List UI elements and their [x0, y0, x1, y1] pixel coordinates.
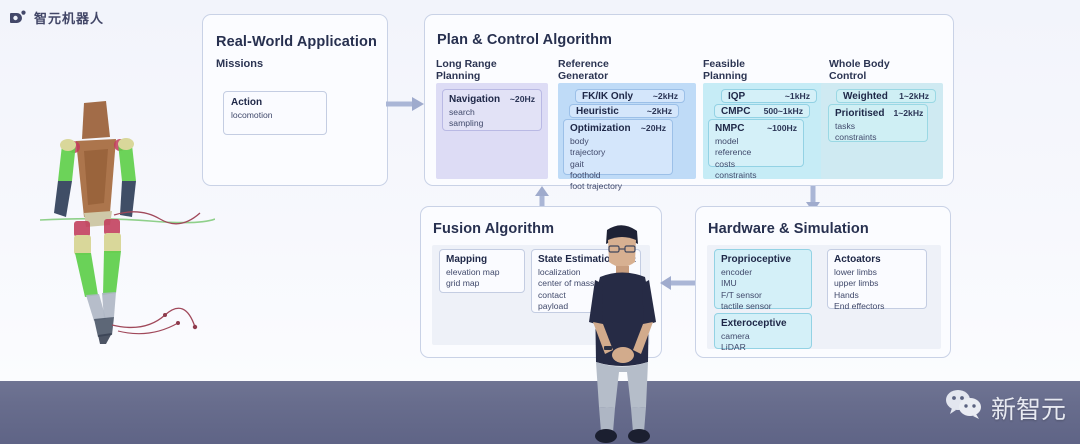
card-prioritised[interactable]: Prioritised 1~2kHz tasks constraints — [828, 104, 928, 142]
arrow-realworld-to-plan — [386, 96, 426, 112]
card-weighted[interactable]: Weighted 1~2kHz — [836, 89, 936, 103]
card-proprioceptive-title: Proprioceptive — [721, 254, 791, 265]
panel-plan-control-algorithm: Plan & Control Algorithm Long Range Plan… — [424, 14, 954, 186]
card-optimization-head: Optimization ~20Hz — [570, 123, 666, 134]
card-action-items: locomotion — [231, 110, 319, 121]
card-actoators-head: Actoators — [834, 254, 920, 265]
card-cmpc-head: CMPC 500~1kHz — [721, 106, 803, 117]
list-item: elevation map — [446, 267, 518, 278]
card-nmpc-hz: ~100Hz — [767, 123, 797, 133]
card-heuristic-hz: ~2kHz — [647, 106, 672, 116]
card-navigation-head: Navigation ~20Hz — [449, 94, 535, 105]
card-optimization-hz: ~20Hz — [641, 123, 666, 133]
list-item: foot trajectory — [570, 181, 666, 192]
col-whole-body-control-label: Whole Body Control — [829, 58, 890, 83]
card-exteroceptive-head: Exteroceptive — [721, 318, 805, 329]
card-exteroceptive[interactable]: Exteroceptive camera LiDAR — [714, 313, 812, 349]
list-item: camera — [721, 331, 805, 342]
col-long-range-label: Long Range Planning — [436, 58, 497, 83]
list-item: gait — [570, 159, 666, 170]
card-mapping[interactable]: Mapping elevation map grid map — [439, 249, 525, 293]
presenter-figure — [575, 222, 670, 444]
list-item: search — [449, 107, 535, 118]
list-item: Hands — [834, 290, 920, 301]
card-heuristic-head: Heuristic ~2kHz — [576, 106, 672, 117]
card-optimization-items: body trajectory gait foothold foot traje… — [570, 136, 666, 193]
card-fkik-only-title: FK/IK Only — [582, 91, 633, 102]
card-navigation-hz: ~20Hz — [510, 94, 535, 104]
card-optimization-title: Optimization — [570, 123, 631, 134]
card-prioritised-hz: 1~2kHz — [893, 108, 923, 118]
card-nmpc[interactable]: NMPC ~100Hz model reference costs constr… — [708, 119, 804, 167]
card-iqp-title: IQP — [728, 91, 745, 102]
card-proprioceptive[interactable]: Proprioceptive encoder IMU F/T sensor ta… — [714, 249, 812, 309]
card-mapping-head: Mapping — [446, 254, 518, 265]
list-item: IMU — [721, 278, 805, 289]
card-action[interactable]: Action locomotion — [223, 91, 327, 135]
list-item: encoder — [721, 267, 805, 278]
col-reference-label-line2: Generator — [558, 70, 609, 82]
card-iqp-head: IQP ~1kHz — [728, 91, 810, 102]
screenshot-root: 智元机器人 — [0, 0, 1080, 444]
card-navigation-items: search sampling — [449, 107, 535, 130]
card-fkik-only-hz: ~2kHz — [653, 91, 678, 101]
card-action-head: Action — [231, 97, 319, 108]
real-world-title: Real-World Application — [216, 34, 377, 50]
card-prioritised-title: Prioritised — [835, 108, 884, 119]
card-nmpc-items: model reference costs constraints — [715, 136, 797, 181]
card-actoators[interactable]: Actoators lower limbs upper limbs Hands … — [827, 249, 927, 309]
fusion-title: Fusion Algorithm — [433, 221, 554, 237]
list-item: constraints — [835, 132, 921, 143]
list-item: costs — [715, 159, 797, 170]
agibot-logo-icon — [8, 10, 28, 26]
col-reference-label-line1: Reference — [558, 58, 609, 70]
list-item: model — [715, 136, 797, 147]
list-item: locomotion — [231, 110, 319, 121]
card-navigation[interactable]: Navigation ~20Hz search sampling — [442, 89, 542, 131]
plan-control-title: Plan & Control Algorithm — [437, 32, 612, 48]
panel-real-world-application: Real-World Application Missions Action l… — [202, 14, 388, 186]
card-heuristic[interactable]: Heuristic ~2kHz — [569, 104, 679, 118]
card-mapping-title: Mapping — [446, 254, 487, 265]
card-fkik-only-head: FK/IK Only ~2kHz — [582, 91, 678, 102]
panel-hardware-simulation: Hardware & Simulation Proprioceptive enc… — [695, 206, 951, 358]
brand-logo: 智元机器人 — [8, 8, 104, 27]
card-cmpc[interactable]: CMPC 500~1kHz — [714, 104, 810, 118]
list-item: constraints — [715, 170, 797, 181]
card-exteroceptive-items: camera LiDAR — [721, 331, 805, 354]
list-item: tactile sensor — [721, 301, 805, 312]
col-reference-generator-label: Reference Generator — [558, 58, 609, 83]
card-actoators-items: lower limbs upper limbs Hands End effect… — [834, 267, 920, 312]
col-long-range-label-line1: Long Range — [436, 58, 497, 70]
list-item: upper limbs — [834, 278, 920, 289]
list-item: reference — [715, 147, 797, 158]
col-whole-body-label-line2: Control — [829, 70, 890, 82]
col-feasible-planning-label: Feasible Planning — [703, 58, 747, 83]
card-prioritised-items: tasks constraints — [835, 121, 921, 144]
list-item: foothold — [570, 170, 666, 181]
channel-watermark: 新智元 — [945, 389, 1066, 426]
col-feasible-label-line2: Planning — [703, 70, 747, 82]
card-iqp[interactable]: IQP ~1kHz — [721, 89, 817, 103]
col-whole-body-label-line1: Whole Body — [829, 58, 890, 70]
card-actoators-title: Actoators — [834, 254, 881, 265]
brand-logo-text: 智元机器人 — [34, 8, 104, 27]
list-item: grid map — [446, 278, 518, 289]
wechat-icon — [945, 389, 983, 426]
card-action-title: Action — [231, 97, 262, 108]
card-proprioceptive-head: Proprioceptive — [721, 254, 805, 265]
card-nmpc-head: NMPC ~100Hz — [715, 123, 797, 134]
stage-floor — [0, 381, 1080, 444]
list-item: body — [570, 136, 666, 147]
col-feasible-label-line1: Feasible — [703, 58, 747, 70]
humanoid-robot-figure — [40, 95, 215, 345]
card-heuristic-title: Heuristic — [576, 106, 619, 117]
list-item: End effectors — [834, 301, 920, 312]
card-iqp-hz: ~1kHz — [785, 91, 810, 101]
card-cmpc-title: CMPC — [721, 106, 750, 117]
card-optimization[interactable]: Optimization ~20Hz body trajectory gait … — [563, 119, 673, 175]
card-nmpc-title: NMPC — [715, 123, 744, 134]
card-weighted-head: Weighted 1~2kHz — [843, 91, 929, 102]
hardware-title: Hardware & Simulation — [708, 221, 869, 237]
list-item: LiDAR — [721, 342, 805, 353]
card-navigation-title: Navigation — [449, 94, 500, 105]
card-fkik-only[interactable]: FK/IK Only ~2kHz — [575, 89, 685, 103]
card-cmpc-hz: 500~1kHz — [764, 106, 803, 116]
card-mapping-items: elevation map grid map — [446, 267, 518, 290]
list-item: sampling — [449, 118, 535, 129]
card-prioritised-head: Prioritised 1~2kHz — [835, 108, 921, 119]
card-weighted-hz: 1~2kHz — [899, 91, 929, 101]
list-item: tasks — [835, 121, 921, 132]
card-proprioceptive-items: encoder IMU F/T sensor tactile sensor — [721, 267, 805, 312]
real-world-subtitle: Missions — [216, 58, 263, 71]
list-item: lower limbs — [834, 267, 920, 278]
watermark-text: 新智元 — [991, 390, 1066, 426]
list-item: F/T sensor — [721, 290, 805, 301]
card-exteroceptive-title: Exteroceptive — [721, 318, 787, 329]
list-item: trajectory — [570, 147, 666, 158]
col-long-range-label-line2: Planning — [436, 70, 497, 82]
card-weighted-title: Weighted — [843, 91, 888, 102]
